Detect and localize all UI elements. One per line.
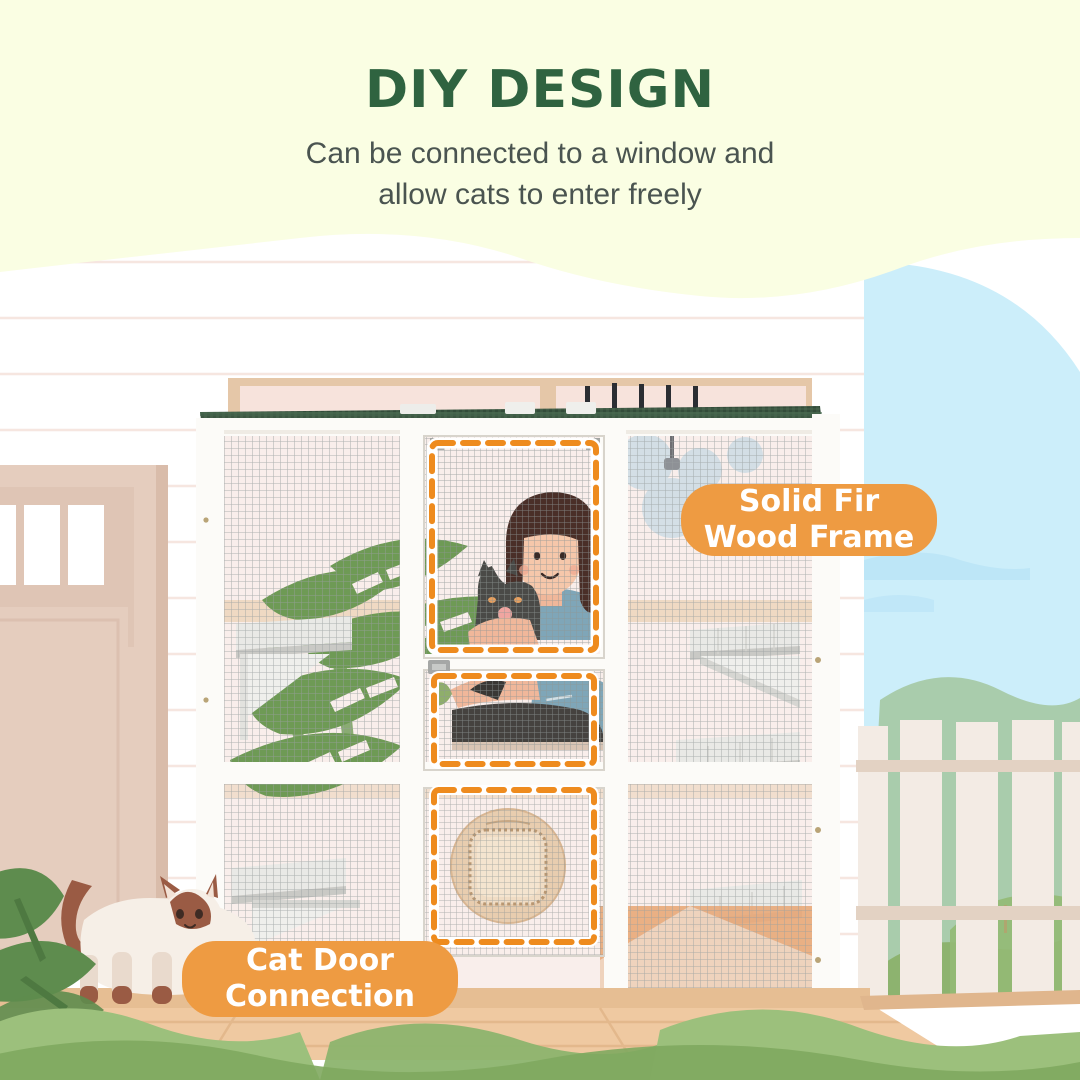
product-infographic: DIY DESIGN Can be connected to a window … [0,0,1080,1080]
subtitle-line-1: Can be connected to a window and [0,133,1080,174]
badge-door-line-1: Cat Door [246,943,394,979]
catio-structure [196,378,840,1016]
badge-fir-line-2: Wood Frame [704,520,914,556]
subtitle-line-2: allow cats to enter freely [0,174,1080,215]
page-subtitle: Can be connected to a window and allow c… [0,133,1080,215]
badge-fir-line-1: Solid Fir [739,484,879,520]
badge-door-line-2: Connection [225,979,415,1015]
badge-solid-fir-wood-frame: Solid Fir Wood Frame [681,484,937,556]
badge-cat-door-connection: Cat Door Connection [182,941,458,1017]
picket-fence [856,677,1080,1010]
page-title: DIY DESIGN [0,60,1080,120]
